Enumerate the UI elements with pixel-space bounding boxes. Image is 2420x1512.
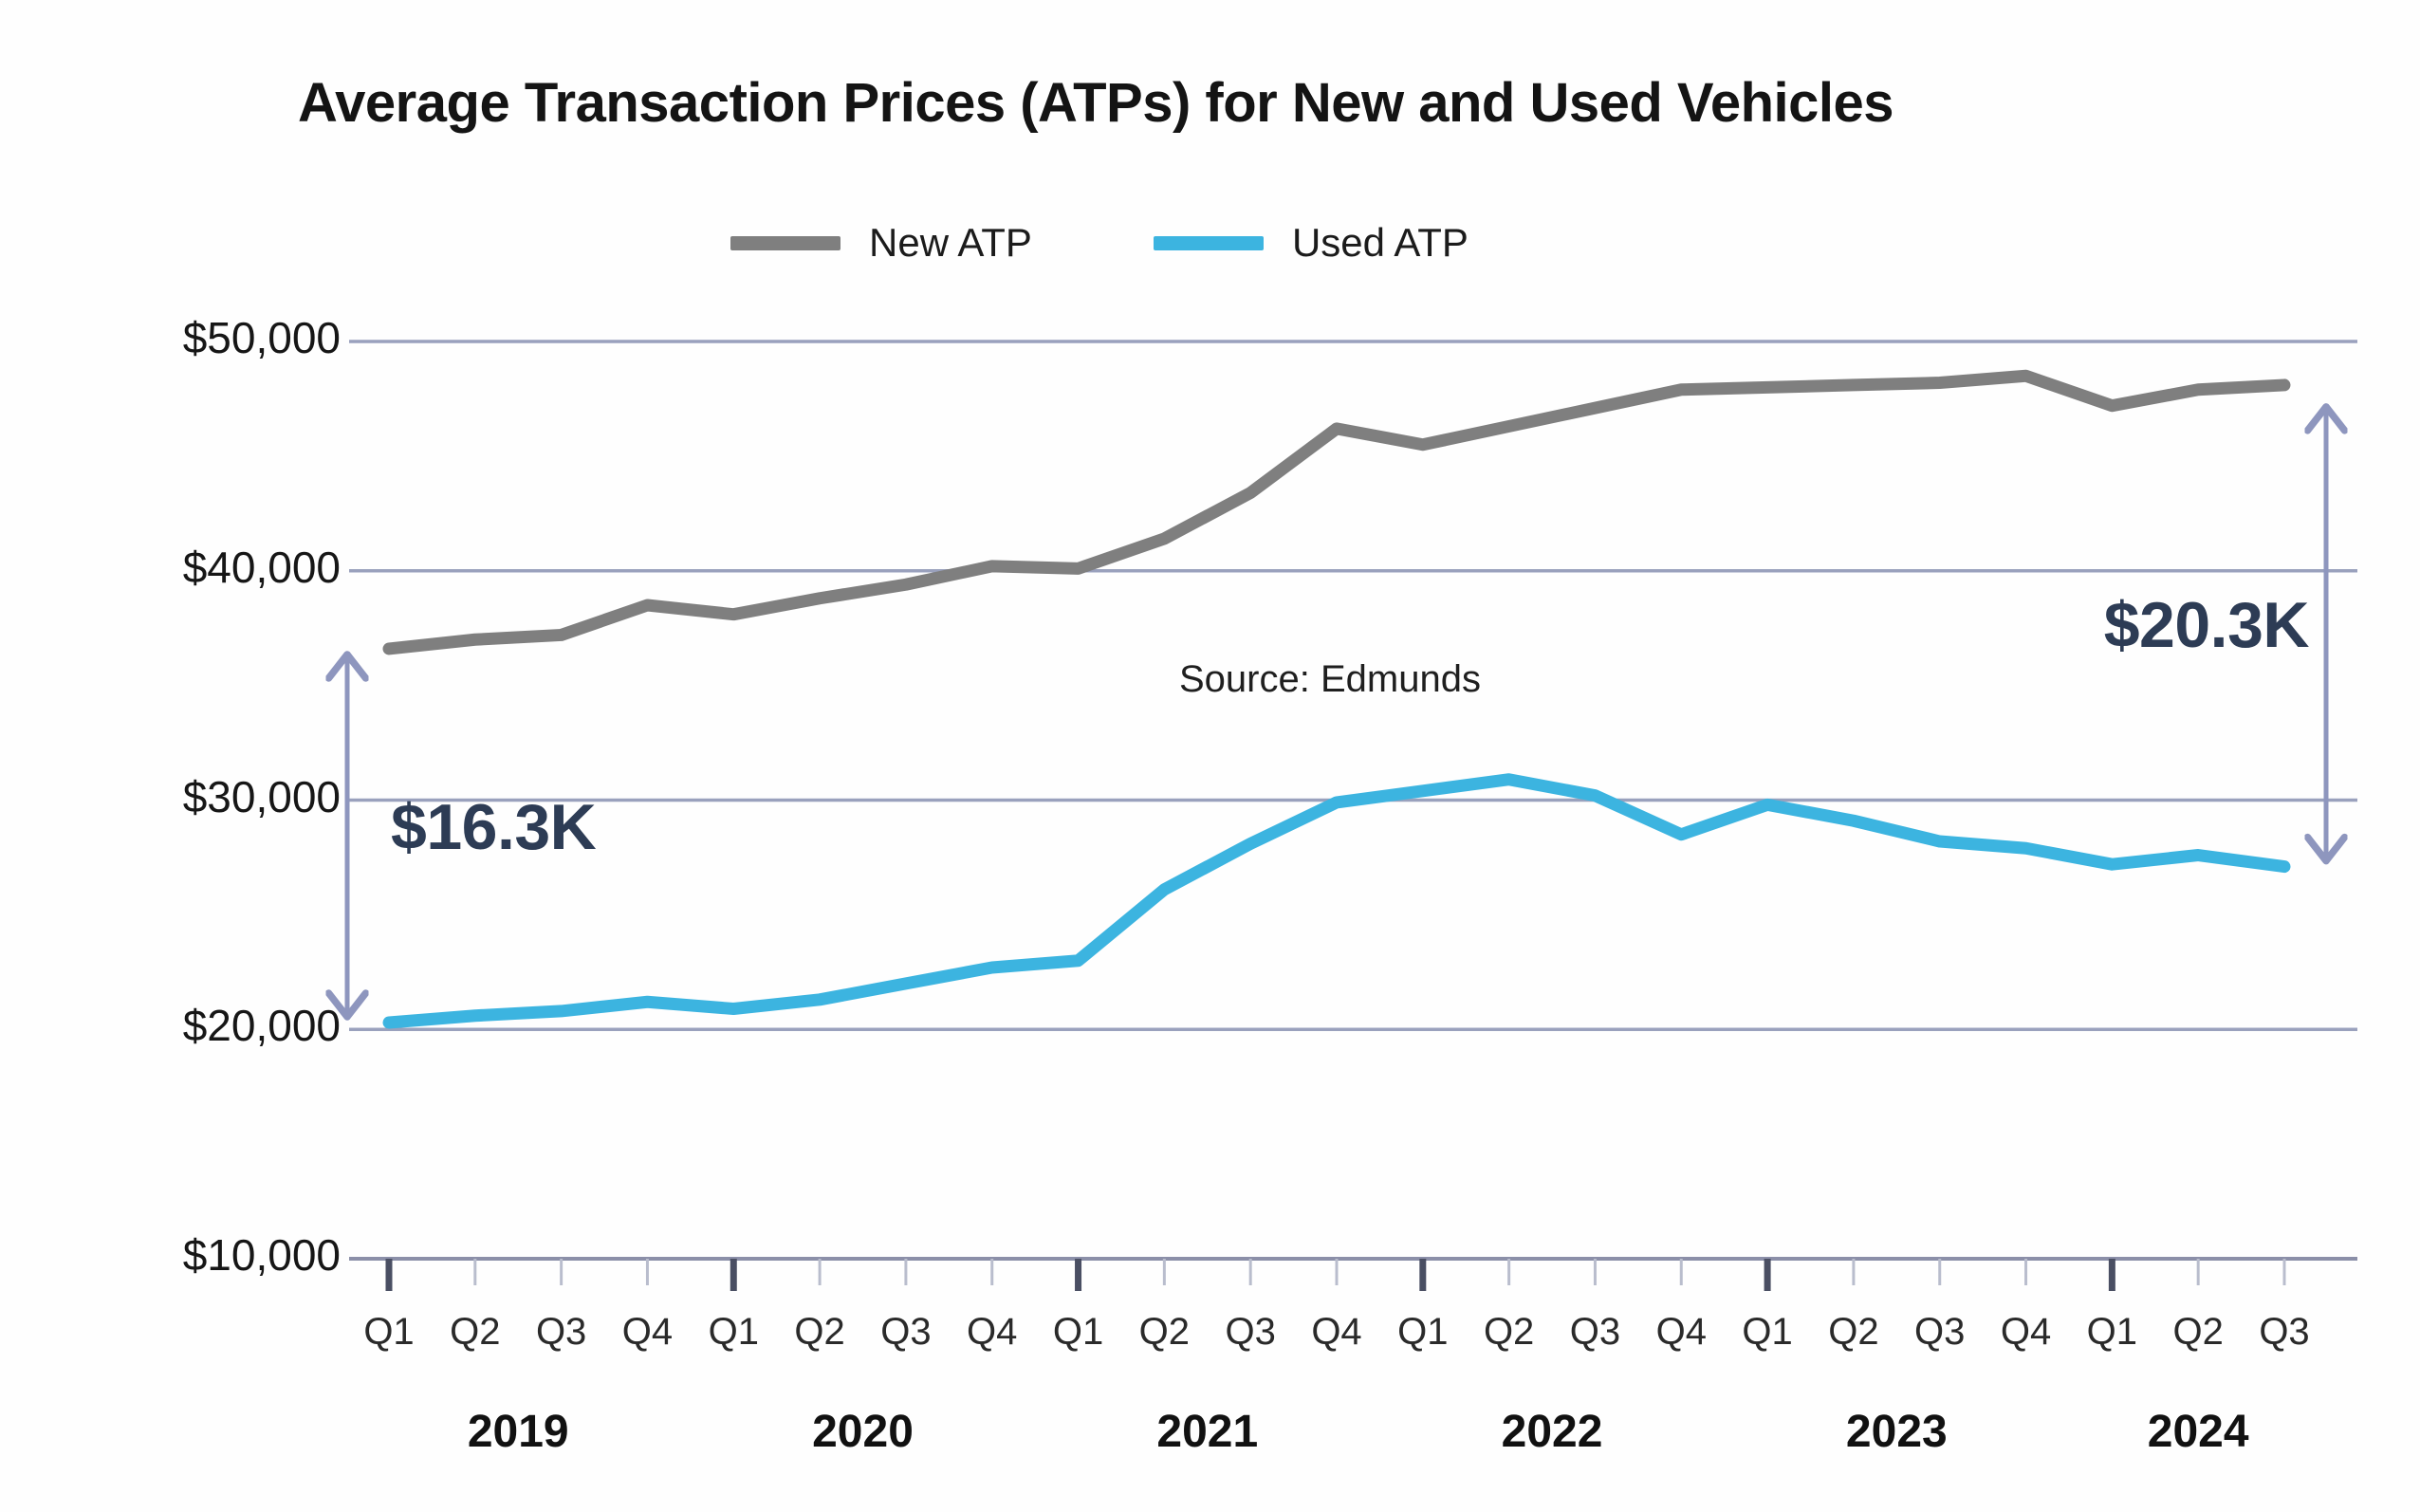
- x-axis: [349, 1259, 2357, 1291]
- x-axis-quarter-label: Q1: [342, 1311, 436, 1354]
- y-axis-label-30000: $30,000: [56, 771, 341, 822]
- x-axis-year-label: 2021: [1103, 1406, 1312, 1458]
- x-axis-quarter-label: Q2: [772, 1311, 867, 1354]
- gap-label-right-gap: $20.3K: [2072, 588, 2309, 662]
- series-line-used-atp: [389, 780, 2284, 1023]
- chart-page: Average Transaction Prices (ATPs) for Ne…: [0, 0, 2420, 1512]
- gap-label-left-gap: $16.3K: [391, 790, 596, 864]
- chart-canvas: [0, 0, 2420, 1512]
- x-axis-year-label: 2024: [2094, 1406, 2302, 1458]
- x-axis-quarter-label: Q4: [1289, 1311, 1384, 1354]
- x-axis-quarter-label: Q2: [1117, 1311, 1211, 1354]
- x-axis-quarter-label: Q1: [686, 1311, 781, 1354]
- x-axis-quarter-label: Q2: [1462, 1311, 1557, 1354]
- x-axis-year-label: 2022: [1448, 1406, 1656, 1458]
- y-axis-label-20000: $20,000: [56, 1000, 341, 1051]
- x-axis-quarter-label: Q2: [2151, 1311, 2245, 1354]
- x-axis-quarter-label: Q3: [2237, 1311, 2332, 1354]
- x-axis-quarter-label: Q3: [1547, 1311, 1642, 1354]
- y-axis-label-50000: $50,000: [56, 312, 341, 363]
- x-axis-quarter-label: Q3: [1203, 1311, 1298, 1354]
- x-axis-quarter-label: Q2: [428, 1311, 523, 1354]
- gap-annotations: [347, 407, 2326, 1017]
- plot-area: [0, 0, 2420, 1512]
- x-axis-quarter-label: Q1: [2064, 1311, 2159, 1354]
- x-axis-quarter-label: Q4: [1634, 1311, 1728, 1354]
- y-axis-label-10000: $10,000: [56, 1229, 341, 1281]
- x-axis-quarter-label: Q1: [1376, 1311, 1470, 1354]
- x-axis-quarter-label: Q3: [1893, 1311, 1987, 1354]
- x-axis-quarter-label: Q1: [1031, 1311, 1126, 1354]
- x-axis-quarter-label: Q1: [1720, 1311, 1815, 1354]
- series-line-new-atp: [389, 376, 2284, 649]
- x-axis-year-label: 2020: [759, 1406, 968, 1458]
- x-axis-year-label: 2023: [1792, 1406, 2001, 1458]
- x-axis-quarter-label: Q3: [859, 1311, 953, 1354]
- x-axis-quarter-label: Q4: [945, 1311, 1040, 1354]
- source-note: Source: Edmunds: [1179, 658, 1481, 701]
- x-axis-year-label: 2019: [414, 1406, 622, 1458]
- y-axis-label-40000: $40,000: [56, 542, 341, 593]
- x-axis-quarter-label: Q3: [514, 1311, 609, 1354]
- x-axis-quarter-label: Q4: [600, 1311, 694, 1354]
- x-axis-quarter-label: Q4: [1979, 1311, 2074, 1354]
- x-axis-quarter-label: Q2: [1806, 1311, 1901, 1354]
